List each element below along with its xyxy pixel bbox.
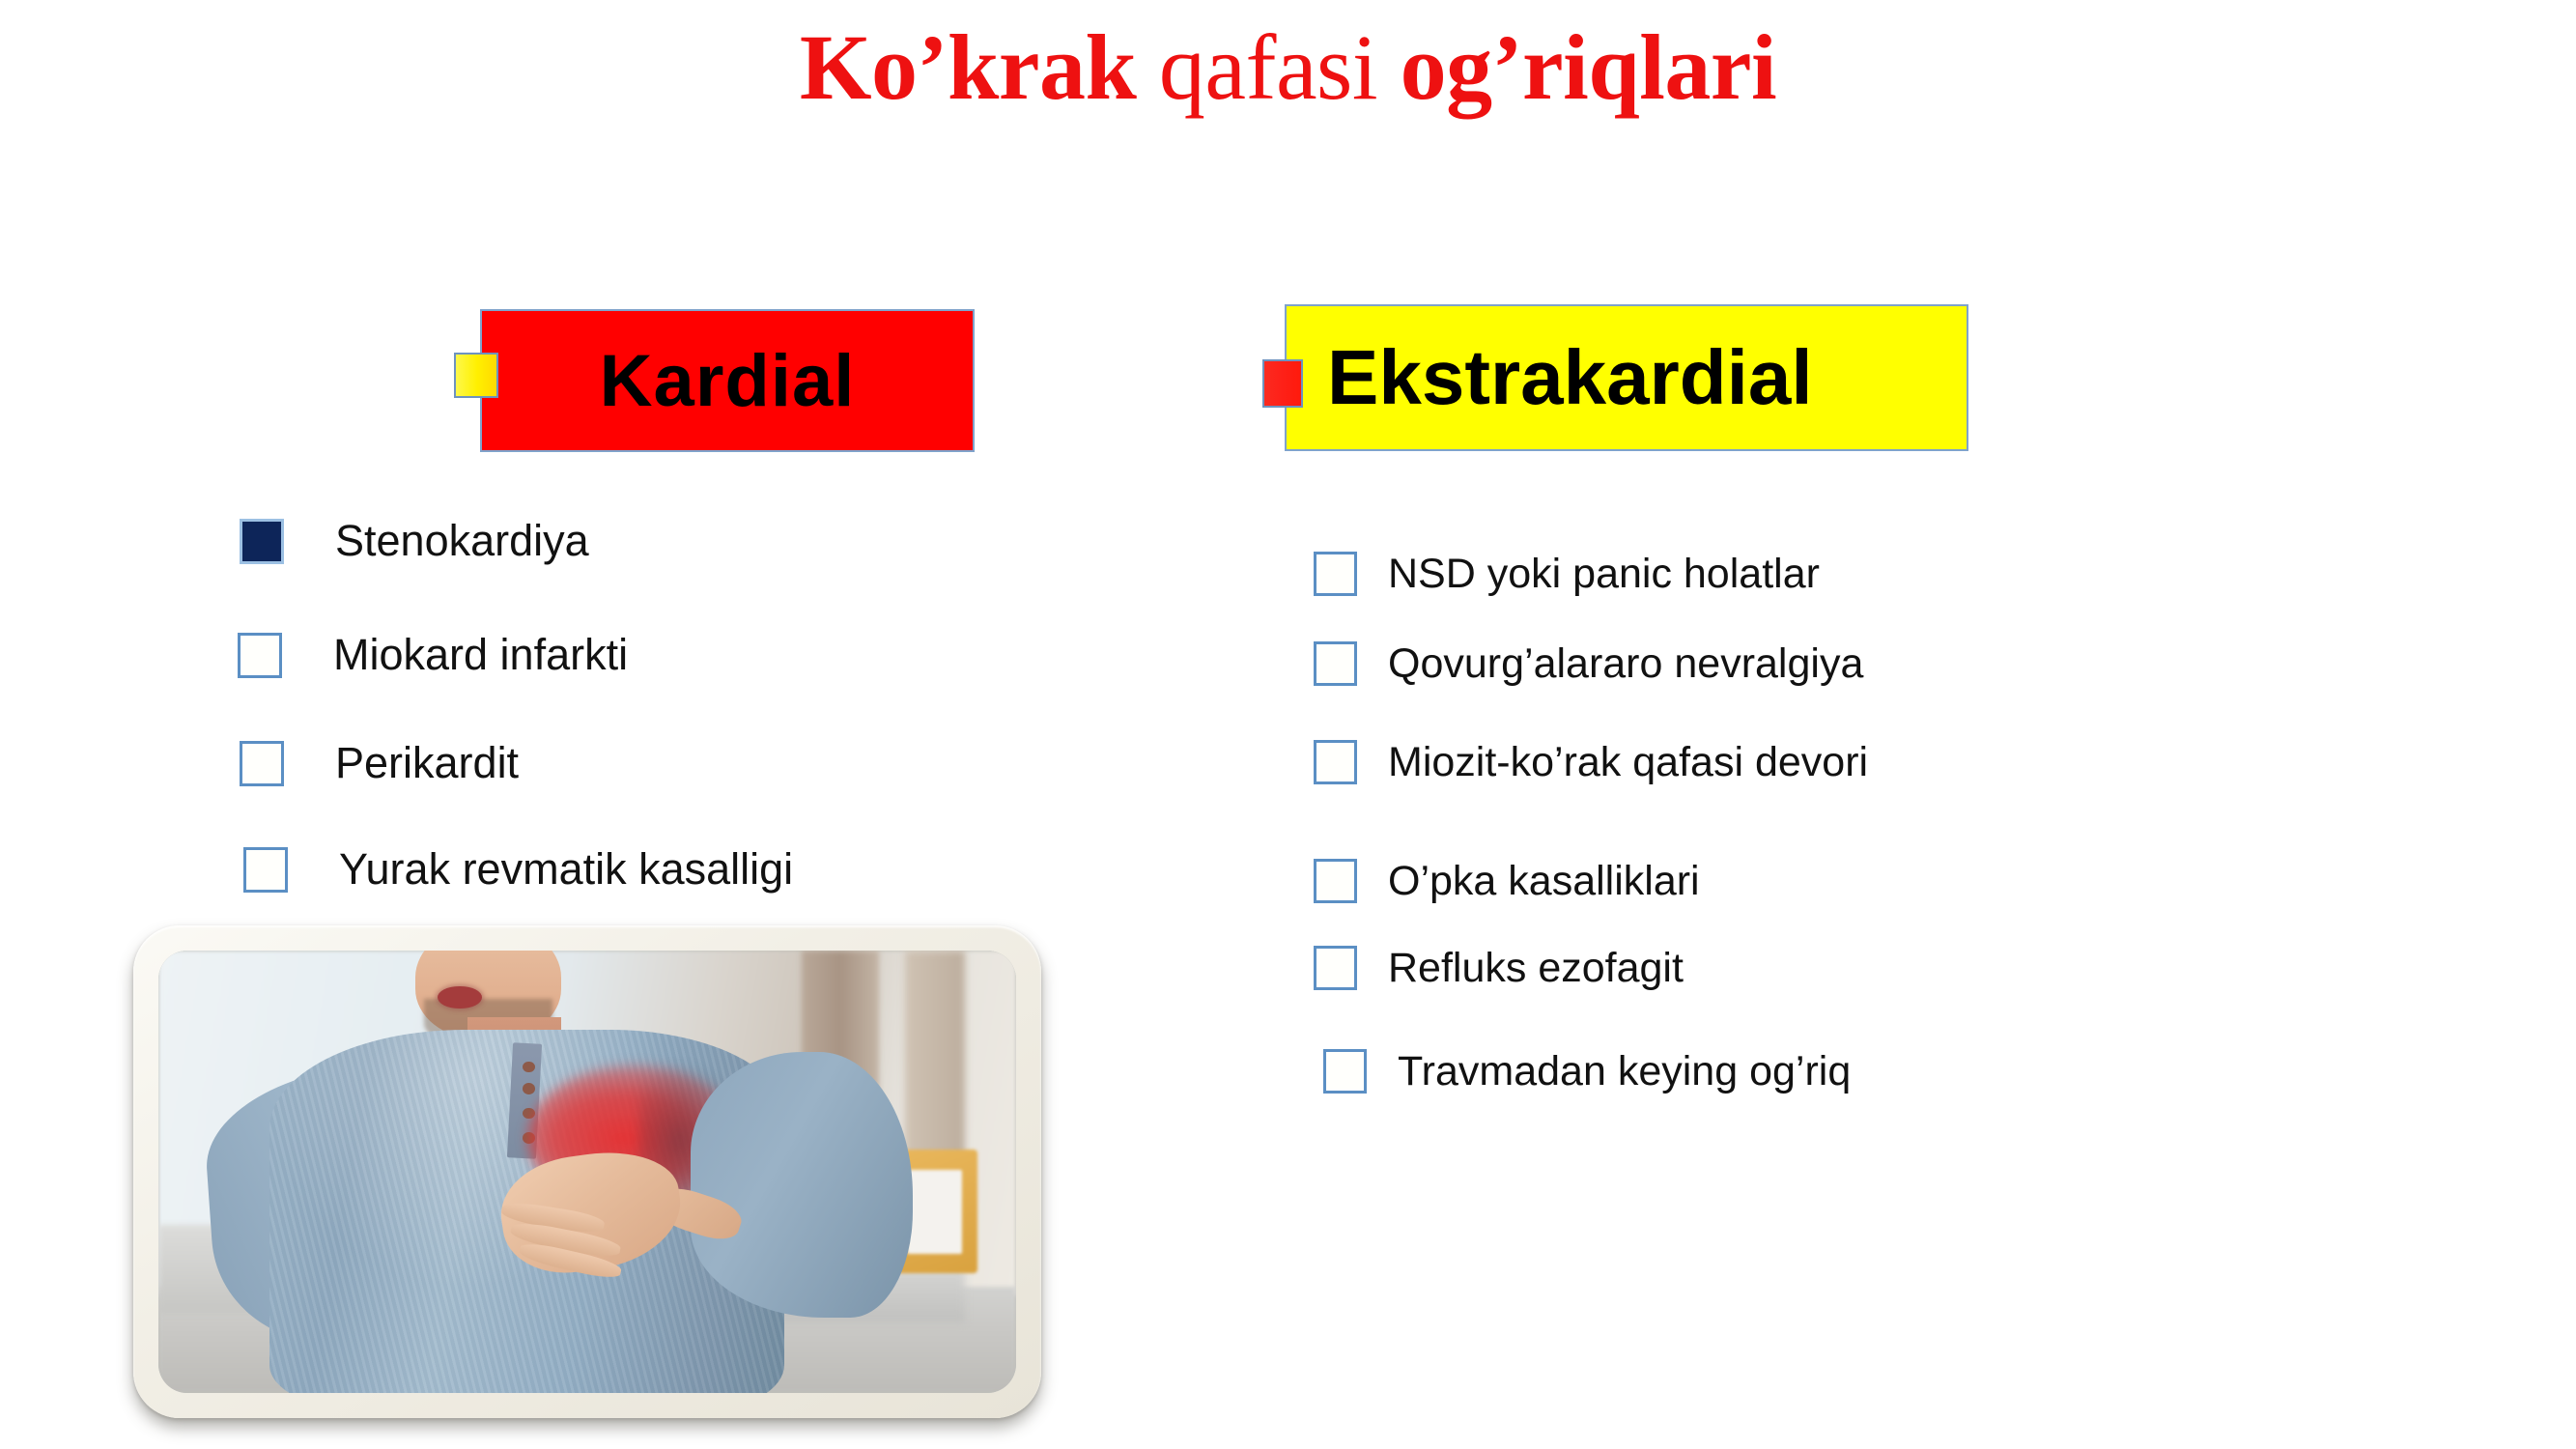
page-title: Ko’krak qafasi og’riqlari — [0, 17, 2576, 118]
checkbox-icon[interactable] — [1314, 552, 1357, 596]
list-item[interactable]: O’pka kasalliklari — [1314, 858, 1700, 904]
list-item[interactable]: Travmadan keying og’riq — [1323, 1048, 1851, 1094]
list-item-label: Perikardit — [335, 740, 519, 786]
list-item[interactable]: Stenokardiya — [240, 518, 589, 564]
list-item-label: Miozit-ko’rak qafasi devori — [1388, 739, 1868, 785]
list-item[interactable]: Miokard infarkti — [238, 632, 628, 678]
list-item-label: Travmadan keying og’riq — [1398, 1048, 1851, 1094]
category-header-ekstrakardial-label: Ekstrakardial — [1327, 333, 1813, 422]
list-item[interactable]: Perikardit — [240, 740, 519, 786]
photo-frame — [133, 925, 1041, 1418]
ekstrakardial-marker-square-icon — [1262, 359, 1303, 408]
kardial-marker-square-icon — [454, 353, 498, 398]
list-item-label: O’pka kasalliklari — [1388, 858, 1700, 904]
checkbox-icon[interactable] — [1314, 859, 1357, 903]
list-item-label: Yurak revmatik kasalligi — [339, 846, 793, 893]
list-item-label: NSD yoki panic holatlar — [1388, 551, 1820, 597]
checkbox-icon[interactable] — [1323, 1049, 1367, 1094]
category-header-kardial-label: Kardial — [600, 339, 856, 423]
checkbox-icon[interactable] — [1314, 641, 1357, 686]
list-item[interactable]: Miozit-ko’rak qafasi devori — [1314, 739, 1868, 785]
checkbox-icon[interactable] — [243, 847, 288, 893]
checkbox-icon[interactable] — [240, 741, 284, 786]
page-title-part-2: qafasi — [1159, 15, 1401, 119]
list-item[interactable]: NSD yoki panic holatlar — [1314, 551, 1820, 597]
page-title-part-1: Ko’krak — [800, 15, 1159, 119]
list-item-label: Qovurg’alararo nevralgiya — [1388, 640, 1863, 687]
list-item[interactable]: Yurak revmatik kasalligi — [243, 846, 793, 893]
checkbox-icon-checked[interactable] — [240, 519, 284, 564]
category-header-kardial[interactable]: Kardial — [480, 309, 975, 452]
checkbox-icon[interactable] — [238, 633, 282, 678]
page-title-part-3: og’riqlari — [1401, 15, 1777, 119]
list-item-label: Miokard infarkti — [333, 632, 628, 678]
list-item-label: Refluks ezofagit — [1388, 945, 1684, 991]
photo-image — [158, 951, 1016, 1393]
checkbox-icon[interactable] — [1314, 740, 1357, 784]
list-item[interactable]: Qovurg’alararo nevralgiya — [1314, 640, 1863, 687]
chest-pain-illustration — [158, 951, 1016, 1393]
category-header-ekstrakardial[interactable]: Ekstrakardial — [1285, 304, 1968, 451]
list-item-label: Stenokardiya — [335, 518, 589, 564]
checkbox-icon[interactable] — [1314, 946, 1357, 990]
list-item[interactable]: Refluks ezofagit — [1314, 945, 1684, 991]
